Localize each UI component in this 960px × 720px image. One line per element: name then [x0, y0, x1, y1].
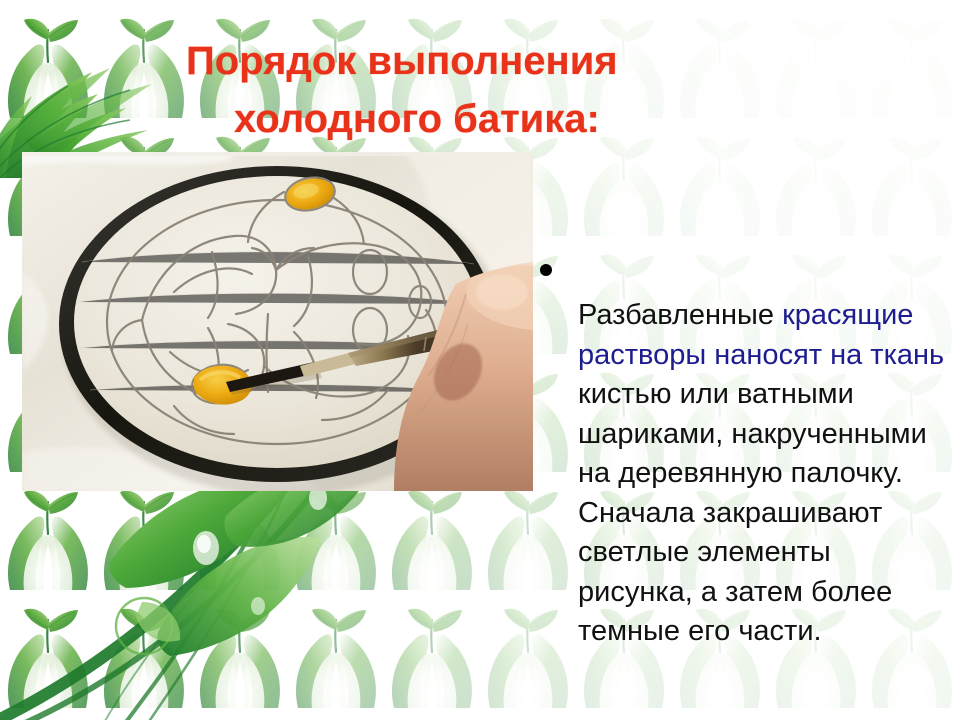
title-line-1: Порядок выполнения — [186, 32, 886, 90]
batik-hoop-photo — [22, 152, 533, 491]
body-paragraph: Разбавленные красящие растворы наносят н… — [578, 296, 950, 652]
title-line-2: холодного батика: — [234, 90, 886, 148]
batik-hoop-illustration — [22, 152, 533, 491]
slide-title: Порядок выполнения холодного батика: — [186, 32, 886, 148]
bullet-point-marker — [540, 264, 552, 276]
slide-canvas: Порядок выполнения холодного батика: — [0, 0, 960, 720]
body-segment-1: Разбавленные — [578, 299, 782, 331]
body-segment-3: кистью или ватными шариками, накрученным… — [578, 378, 927, 647]
